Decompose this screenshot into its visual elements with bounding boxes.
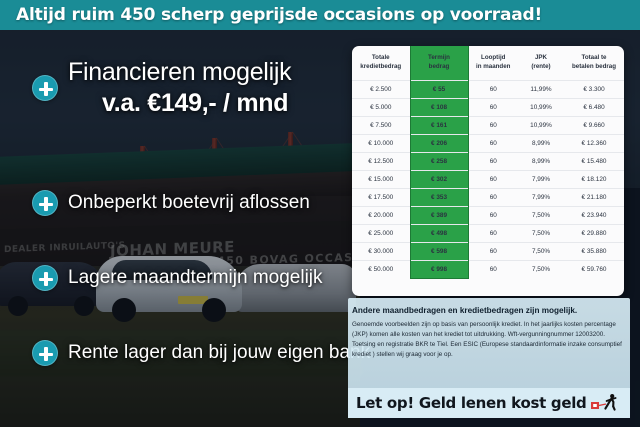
header-looptijd: Looptijdin maanden	[468, 46, 518, 80]
cell-jkp: 8,99%	[518, 152, 564, 170]
advertisement-banner: DEALER INRUILAUTO'S JOHAN MEURE ALTIJD 4…	[0, 0, 640, 427]
cell-kredietbedrag: € 7.500	[352, 116, 410, 134]
cell-jkp: 8,99%	[518, 134, 564, 152]
feature-label-financieren-line2: v.a. €149,- / mnd	[68, 89, 291, 118]
cell-jkp: 7,50%	[518, 242, 564, 260]
table-row: € 7.500€ 1616010,99%€ 9.660	[352, 116, 624, 134]
cell-looptijd: 60	[468, 206, 518, 224]
cell-jkp: 10,99%	[518, 98, 564, 116]
table-row: € 12.500€ 258608,99%€ 15.480	[352, 152, 624, 170]
cell-totaal: € 35.880	[564, 242, 624, 260]
cell-looptijd: 60	[468, 116, 518, 134]
credit-warning-strip: Let op! Geld lenen kost geld	[348, 388, 630, 418]
cell-totaal: € 59.760	[564, 260, 624, 278]
rate-table-card: Totalekredietbedrag Termijnbedrag Loopti…	[352, 46, 624, 296]
header-kredietbedrag: Totalekredietbedrag	[352, 46, 410, 80]
cell-kredietbedrag: € 12.500	[352, 152, 410, 170]
table-row: € 5.000€ 1086010,99%€ 6.480	[352, 98, 624, 116]
feature-item-rente: Rente lager dan bij jouw eigen bank	[32, 340, 370, 366]
cell-termijnbedrag: € 353	[410, 188, 468, 206]
cell-termijnbedrag: € 389	[410, 206, 468, 224]
header-termijnbedrag: Termijnbedrag	[410, 46, 468, 80]
cell-totaal: € 18.120	[564, 170, 624, 188]
cell-looptijd: 60	[468, 98, 518, 116]
cell-jkp: 7,50%	[518, 260, 564, 278]
cell-termijnbedrag: € 258	[410, 152, 468, 170]
cell-kredietbedrag: € 25.000	[352, 224, 410, 242]
cell-totaal: € 15.480	[564, 152, 624, 170]
cell-looptijd: 60	[468, 170, 518, 188]
cell-totaal: € 12.360	[564, 134, 624, 152]
cell-kredietbedrag: € 2.500	[352, 80, 410, 98]
cell-jkp: 7,99%	[518, 188, 564, 206]
cell-termijnbedrag: € 302	[410, 170, 468, 188]
cell-jkp: 7,50%	[518, 206, 564, 224]
feature-item-maandtermijn: Lagere maandtermijn mogelijk	[32, 265, 323, 291]
table-header-row: Totalekredietbedrag Termijnbedrag Loopti…	[352, 46, 624, 80]
cell-kredietbedrag: € 10.000	[352, 134, 410, 152]
cell-looptijd: 60	[468, 224, 518, 242]
table-row: € 30.000€ 598607,50%€ 35.880	[352, 242, 624, 260]
cell-looptijd: 60	[468, 80, 518, 98]
cell-termijnbedrag: € 998	[410, 260, 468, 278]
cell-totaal: € 3.300	[564, 80, 624, 98]
geld-lenen-kost-geld-icon	[591, 393, 619, 413]
cell-totaal: € 9.660	[564, 116, 624, 134]
cell-termijnbedrag: € 498	[410, 224, 468, 242]
table-row: € 50.000€ 998607,50%€ 59.760	[352, 260, 624, 278]
cell-kredietbedrag: € 30.000	[352, 242, 410, 260]
disclaimer-heading: Andere maandbedragen en kredietbedragen …	[352, 306, 624, 315]
rate-table: Totalekredietbedrag Termijnbedrag Loopti…	[352, 46, 624, 279]
plus-icon	[32, 75, 58, 101]
feature-label-aflossen: Onbeperkt boetevrij aflossen	[68, 192, 310, 214]
feature-item-aflossen: Onbeperkt boetevrij aflossen	[32, 190, 310, 216]
cell-kredietbedrag: € 15.000	[352, 170, 410, 188]
plus-icon	[32, 265, 58, 291]
table-row: € 25.000€ 498607,50%€ 29.880	[352, 224, 624, 242]
cell-kredietbedrag: € 50.000	[352, 260, 410, 278]
banner-headline: Altijd ruim 450 scherp geprijsde occasio…	[16, 5, 542, 25]
cell-termijnbedrag: € 161	[410, 116, 468, 134]
table-row: € 20.000€ 389607,50%€ 23.940	[352, 206, 624, 224]
credit-warning-text: Let op! Geld lenen kost geld	[356, 394, 586, 412]
feature-label-rente: Rente lager dan bij jouw eigen bank	[68, 342, 370, 364]
cell-totaal: € 21.180	[564, 188, 624, 206]
cell-termijnbedrag: € 108	[410, 98, 468, 116]
cell-looptijd: 60	[468, 188, 518, 206]
cell-termijnbedrag: € 598	[410, 242, 468, 260]
disclaimer-text-block: Andere maandbedragen en kredietbedragen …	[352, 306, 624, 360]
cell-looptijd: 60	[468, 134, 518, 152]
feature-label-maandtermijn: Lagere maandtermijn mogelijk	[68, 267, 323, 289]
cell-totaal: € 23.940	[564, 206, 624, 224]
cell-looptijd: 60	[468, 152, 518, 170]
cell-looptijd: 60	[468, 260, 518, 278]
header-jkp: JPK(rente)	[518, 46, 564, 80]
cell-termijnbedrag: € 55	[410, 80, 468, 98]
cell-jkp: 10,99%	[518, 116, 564, 134]
cell-totaal: € 6.480	[564, 98, 624, 116]
cell-jkp: 11,99%	[518, 80, 564, 98]
cell-termijnbedrag: € 206	[410, 134, 468, 152]
table-row: € 15.000€ 302607,99%€ 18.120	[352, 170, 624, 188]
header-totaal: Totaal tebetalen bedrag	[564, 46, 624, 80]
cell-looptijd: 60	[468, 242, 518, 260]
top-banner: Altijd ruim 450 scherp geprijsde occasio…	[0, 0, 640, 30]
table-row: € 17.500€ 353607,99%€ 21.180	[352, 188, 624, 206]
cell-jkp: 7,99%	[518, 170, 564, 188]
plus-icon	[32, 340, 58, 366]
table-row: € 2.500€ 556011,99%€ 3.300	[352, 80, 624, 98]
table-row: € 10.000€ 206608,99%€ 12.360	[352, 134, 624, 152]
cell-kredietbedrag: € 17.500	[352, 188, 410, 206]
rate-table-head: Totalekredietbedrag Termijnbedrag Loopti…	[352, 46, 624, 80]
feature-list: Financieren mogelijk v.a. €149,- / mnd O…	[0, 30, 350, 427]
disclaimer-body: Genoemde voorbeelden zijn op basis van p…	[352, 320, 624, 360]
plus-icon	[32, 190, 58, 216]
feature-label-financieren-line1: Financieren mogelijk	[68, 58, 291, 87]
cell-jkp: 7,50%	[518, 224, 564, 242]
cell-kredietbedrag: € 20.000	[352, 206, 410, 224]
cell-kredietbedrag: € 5.000	[352, 98, 410, 116]
cell-totaal: € 29.880	[564, 224, 624, 242]
feature-item-financieren: Financieren mogelijk v.a. €149,- / mnd	[32, 58, 291, 118]
rate-table-body: € 2.500€ 556011,99%€ 3.300€ 5.000€ 10860…	[352, 80, 624, 278]
